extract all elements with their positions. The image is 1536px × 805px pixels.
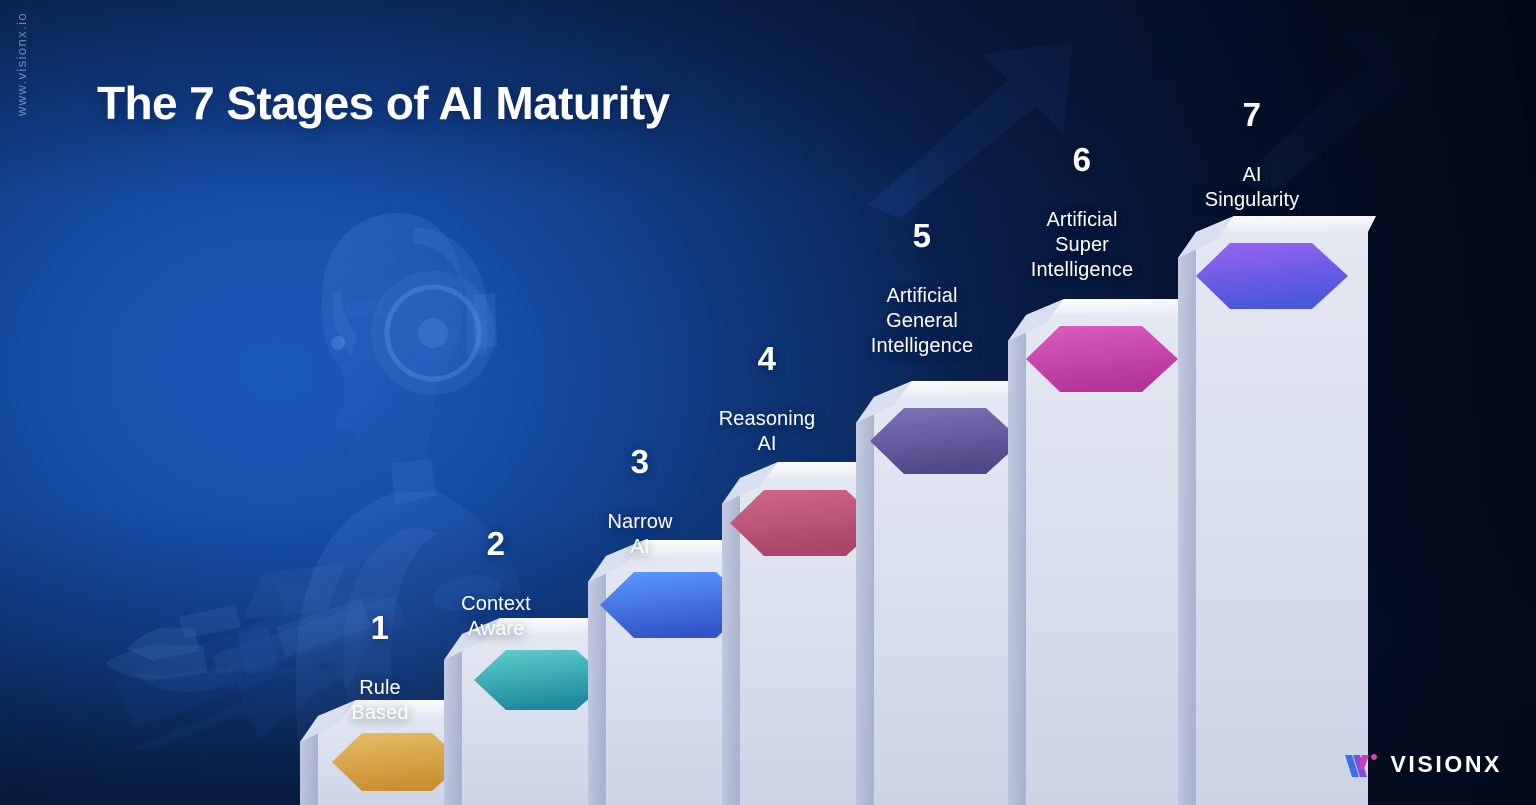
brand-logo[interactable]: VISIONX: [1343, 749, 1502, 779]
brand-name: VISIONX: [1390, 751, 1502, 778]
visionx-mark-icon: [1343, 749, 1379, 779]
infographic-canvas: www.visionx.io The 7 Stages of AI Maturi…: [0, 0, 1536, 805]
platform-step-7[interactable]: [1178, 216, 1376, 805]
platform-step-6[interactable]: [1008, 299, 1206, 805]
staircase-chart: [0, 0, 1536, 805]
